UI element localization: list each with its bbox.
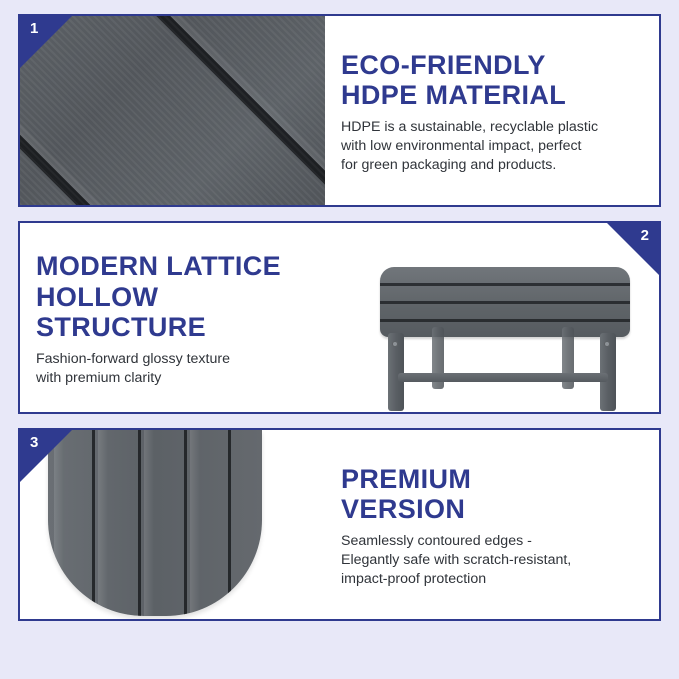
screw-icon xyxy=(604,341,610,347)
feature-panel-1-body: HDPE is a sustainable, recyclable plasti… xyxy=(341,118,641,175)
feature-panel-2-text: MODERN LATTICE HOLLOW STRUCTURE Fashion-… xyxy=(20,223,354,412)
badge-number-label: 2 xyxy=(641,227,649,244)
table-top xyxy=(380,267,630,337)
badge-triangle-icon xyxy=(607,223,659,275)
feature-panel-1-text: ECO-FRIENDLY HDPE MATERIAL HDPE is a sus… xyxy=(325,16,659,205)
feature-panel-2-body: Fashion-forward glossy texture with prem… xyxy=(36,350,336,388)
feature-panel-1-heading: ECO-FRIENDLY HDPE MATERIAL xyxy=(341,50,641,110)
feature-panel-3: 3 PREMIUM VERSION Seamlessly contoured e… xyxy=(18,428,661,621)
badge-triangle-icon xyxy=(20,430,72,482)
feature-panel-3-heading: PREMIUM VERSION xyxy=(341,464,641,524)
feature-panel-1: 1 ECO-FRIENDLY HDPE MATERIAL HDPE is a s… xyxy=(18,14,661,207)
feature-panel-3-body: Seamlessly contoured edges - Elegantly s… xyxy=(341,532,641,589)
badge-number-3: 3 xyxy=(20,430,72,482)
badge-number-label: 1 xyxy=(30,20,38,37)
feature-panel-2: 2 MODERN LATTICE HOLLOW STRUCTURE Fashio… xyxy=(18,221,661,414)
feature-infographic-page: 1 ECO-FRIENDLY HDPE MATERIAL HDPE is a s… xyxy=(0,0,679,679)
feature-panel-2-heading: MODERN LATTICE HOLLOW STRUCTURE xyxy=(36,251,336,342)
table-rail xyxy=(398,373,608,382)
screw-icon xyxy=(392,341,398,347)
badge-number-2: 2 xyxy=(607,223,659,275)
badge-number-1: 1 xyxy=(20,16,72,68)
slat-panel xyxy=(48,430,262,616)
badge-number-label: 3 xyxy=(30,434,38,451)
badge-triangle-icon xyxy=(20,16,72,68)
feature-panel-3-text: PREMIUM VERSION Seamlessly contoured edg… xyxy=(325,430,659,619)
